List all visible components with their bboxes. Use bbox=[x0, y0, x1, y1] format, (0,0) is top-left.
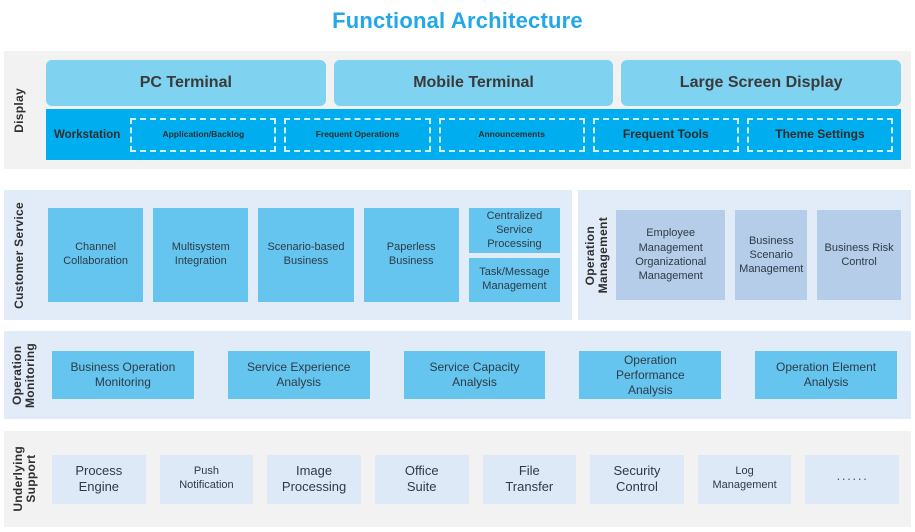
customer-service-card-task-message-management[interactable]: Task/Message Management bbox=[469, 258, 560, 302]
workstation-label: Workstation bbox=[54, 129, 122, 141]
underlying-support-card-log-management[interactable]: Log Management bbox=[698, 455, 792, 504]
underlying-support-card-file-transfer[interactable]: File Transfer bbox=[483, 455, 577, 504]
display-layer-label: Display bbox=[4, 51, 36, 169]
operation-monitoring-card-service-experience-analysis[interactable]: Service Experience Analysis bbox=[228, 351, 370, 399]
display-layer-body: PC Terminal Mobile Terminal Large Screen… bbox=[36, 51, 911, 169]
workstation-item-frequent-operations[interactable]: Frequent Operations bbox=[284, 118, 430, 152]
underlying-support-label-text: Underlying Support bbox=[12, 446, 38, 512]
customer-service-card-row: Channel Collaboration Multisystem Integr… bbox=[48, 208, 560, 302]
operation-management-card-row: Employee Management Organizational Manag… bbox=[616, 210, 901, 300]
operation-management-band: Operation Management Employee Management… bbox=[578, 190, 911, 320]
operation-monitoring-card-business-operation-monitoring[interactable]: Business Operation Monitoring bbox=[52, 351, 194, 399]
terminal-row: PC Terminal Mobile Terminal Large Screen… bbox=[46, 60, 901, 106]
operation-monitoring-card-operation-element-analysis[interactable]: Operation Element Analysis bbox=[755, 351, 897, 399]
display-layer-label-text: Display bbox=[13, 88, 26, 133]
operation-management-label-text: Operation Management bbox=[584, 217, 610, 293]
customer-service-card-channel-collaboration[interactable]: Channel Collaboration bbox=[48, 208, 143, 302]
underlying-support-card-row: Process Engine Push Notification Image P… bbox=[52, 455, 899, 504]
underlying-support-card-more[interactable]: ······ bbox=[805, 455, 899, 504]
underlying-support-label: Underlying Support bbox=[4, 431, 46, 527]
customer-service-card-centralized-service-processing[interactable]: Centralized Service Processing bbox=[469, 208, 560, 253]
underlying-support-card-image-processing[interactable]: Image Processing bbox=[267, 455, 361, 504]
terminal-card-pc[interactable]: PC Terminal bbox=[46, 60, 326, 106]
workstation-item-application-backlog[interactable]: Application/Backlog bbox=[130, 118, 276, 152]
underlying-support-card-office-suite[interactable]: Office Suite bbox=[375, 455, 469, 504]
customer-service-card-paperless-business[interactable]: Paperless Business bbox=[364, 208, 459, 302]
functional-architecture-diagram: Functional Architecture Display PC Termi… bbox=[0, 0, 915, 532]
customer-service-body: Channel Collaboration Multisystem Integr… bbox=[36, 190, 572, 320]
operation-monitoring-card-operation-performance-analysis[interactable]: Operation Performance Analysis bbox=[579, 351, 721, 399]
operation-management-body: Employee Management Organizational Manag… bbox=[616, 190, 911, 320]
operation-management-card-employee-management[interactable]: Employee Management Organizational Manag… bbox=[616, 210, 725, 300]
operation-monitoring-card-row: Business Operation Monitoring Service Ex… bbox=[52, 351, 897, 399]
operation-monitoring-body: Business Operation Monitoring Service Ex… bbox=[44, 331, 911, 419]
underlying-support-band: Underlying Support Process Engine Push N… bbox=[4, 431, 911, 527]
workstation-item-frequent-tools[interactable]: Frequent Tools bbox=[593, 118, 739, 152]
operation-management-label: Operation Management bbox=[578, 190, 616, 320]
page-title: Functional Architecture bbox=[0, 8, 915, 34]
operation-management-card-business-risk-control[interactable]: Business Risk Control bbox=[817, 210, 901, 300]
underlying-support-card-process-engine[interactable]: Process Engine bbox=[52, 455, 146, 504]
customer-service-card-scenario-based-business[interactable]: Scenario-based Business bbox=[258, 208, 353, 302]
customer-service-stacked-group: Centralized Service Processing Task/Mess… bbox=[469, 208, 560, 302]
operation-monitoring-band: Operation Monitoring Business Operation … bbox=[4, 331, 911, 419]
underlying-support-body: Process Engine Push Notification Image P… bbox=[46, 431, 911, 527]
underlying-support-card-push-notification[interactable]: Push Notification bbox=[160, 455, 254, 504]
workstation-item-theme-settings[interactable]: Theme Settings bbox=[747, 118, 893, 152]
operation-monitoring-label-text: Operation Monitoring bbox=[11, 343, 37, 408]
operation-management-card-business-scenario-management[interactable]: Business Scenario Management bbox=[735, 210, 807, 300]
workstation-row: Workstation Application/Backlog Frequent… bbox=[46, 109, 901, 160]
underlying-support-card-security-control[interactable]: Security Control bbox=[590, 455, 684, 504]
terminal-card-mobile[interactable]: Mobile Terminal bbox=[334, 60, 614, 106]
customer-service-band: Customer Service Channel Collaboration M… bbox=[4, 190, 572, 320]
display-layer-band: Display PC Terminal Mobile Terminal Larg… bbox=[4, 51, 911, 169]
operation-monitoring-card-service-capacity-analysis[interactable]: Service Capacity Analysis bbox=[404, 351, 546, 399]
customer-service-label: Customer Service bbox=[4, 190, 36, 320]
customer-service-card-multisystem-integration[interactable]: Multisystem Integration bbox=[153, 208, 248, 302]
terminal-card-large-screen[interactable]: Large Screen Display bbox=[621, 60, 901, 106]
customer-service-label-text: Customer Service bbox=[13, 202, 26, 309]
operation-monitoring-label: Operation Monitoring bbox=[4, 331, 44, 419]
workstation-item-announcements[interactable]: Announcements bbox=[439, 118, 585, 152]
